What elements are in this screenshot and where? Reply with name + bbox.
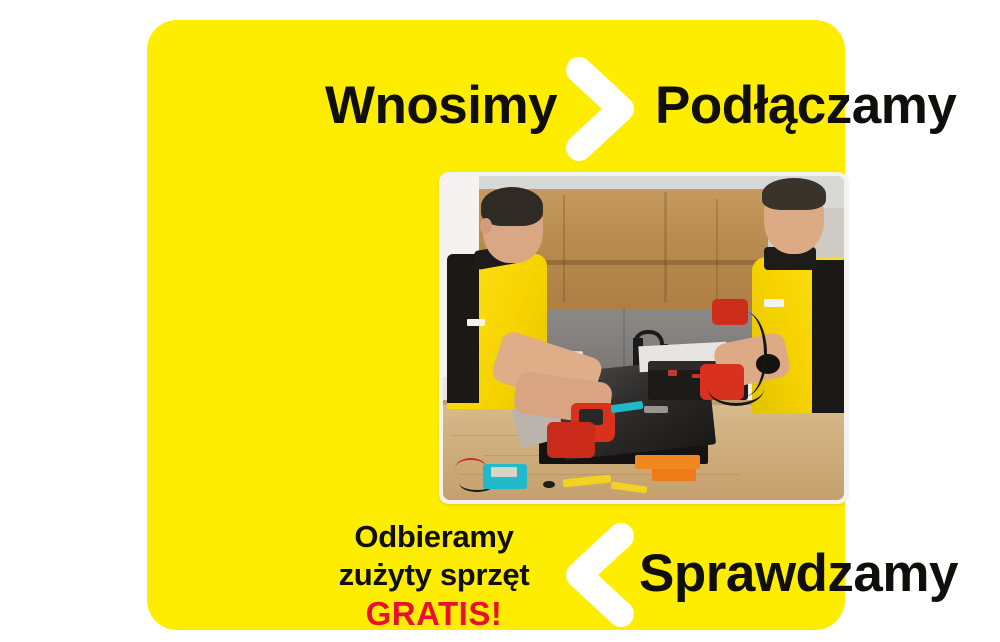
pickup-line-free: GRATIS! bbox=[314, 594, 554, 634]
photo-worker-left-shirt-black-panel bbox=[447, 254, 479, 403]
photo-worker-right-logo bbox=[764, 299, 784, 307]
photo-cabinet-grain bbox=[664, 192, 667, 302]
photo-terminal-block bbox=[652, 469, 696, 480]
photo-worker-right-hair bbox=[762, 178, 826, 210]
pickup-text-block: Odbieramy zużyty sprzęt GRATIS! bbox=[314, 518, 554, 634]
photo-worker-left-glove bbox=[547, 422, 595, 458]
photo-power-cable bbox=[708, 370, 764, 405]
chevron-left-icon bbox=[559, 522, 637, 628]
photo-frame bbox=[439, 172, 848, 504]
photo-tray-tool bbox=[668, 370, 678, 375]
heading-sprawdzamy: Sprawdzamy bbox=[639, 546, 958, 602]
chevron-down-icon bbox=[867, 312, 971, 390]
installation-photo bbox=[443, 176, 844, 500]
pickup-line-2: zużyty sprzęt bbox=[314, 556, 554, 594]
heading-podlaczamy: Podłączamy bbox=[655, 78, 956, 134]
photo-terminal-block bbox=[635, 455, 699, 470]
heading-wnosimy: Wnosimy bbox=[325, 78, 557, 134]
photo-tray-tool bbox=[692, 374, 700, 379]
photo-worker-right-shirt-black-panel bbox=[812, 260, 844, 412]
photo-tool bbox=[644, 406, 668, 412]
photo-cabinet-grain bbox=[563, 195, 565, 302]
yellow-panel: Wnosimy Podłączamy Sprawdzamy Odbieramy … bbox=[147, 20, 845, 630]
poster-canvas: Wnosimy Podłączamy Sprawdzamy Odbieramy … bbox=[0, 0, 1000, 642]
photo-cabinet-grain bbox=[716, 199, 718, 299]
photo-worker-left-logo bbox=[467, 319, 485, 326]
photo-multimeter-screen bbox=[491, 467, 517, 477]
chevron-right-icon bbox=[565, 56, 641, 162]
pickup-line-1: Odbieramy bbox=[314, 518, 554, 556]
